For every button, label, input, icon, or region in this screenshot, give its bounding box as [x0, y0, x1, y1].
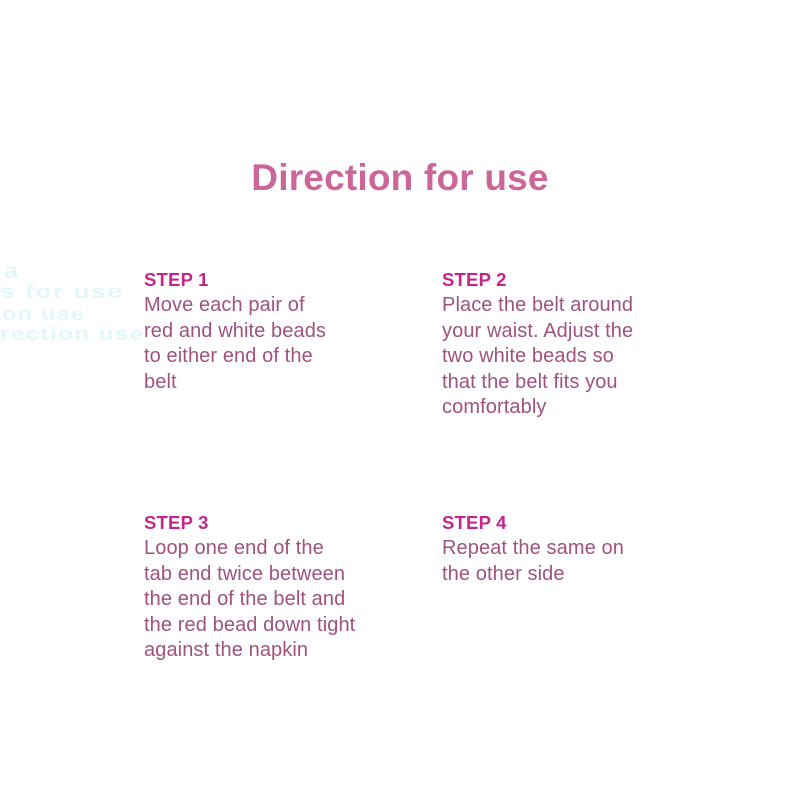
step-block-2: STEP 2 Place the belt around your waist.… [442, 267, 742, 421]
step-4-body: Repeat the same on the other side [442, 536, 742, 587]
step-block-4: STEP 4 Repeat the same on the other side [442, 510, 742, 587]
step-3-body: Loop one end of the tab end twice betwee… [144, 536, 444, 664]
step-1-heading: STEP 1 [144, 267, 444, 292]
step-4-heading: STEP 4 [442, 510, 742, 535]
step-2-heading: STEP 2 [442, 267, 742, 292]
step-2-body: Place the belt around your waist. Adjust… [442, 293, 742, 421]
step-1-body: Move each pair of red and white beads to… [144, 293, 444, 395]
steps-grid: STEP 1 Move each pair of red and white b… [0, 0, 800, 800]
step-block-1: STEP 1 Move each pair of red and white b… [144, 267, 444, 395]
instruction-poster: a s for use on use rection use Direction… [0, 0, 800, 800]
step-3-heading: STEP 3 [144, 510, 444, 535]
step-block-3: STEP 3 Loop one end of the tab end twice… [144, 510, 444, 664]
